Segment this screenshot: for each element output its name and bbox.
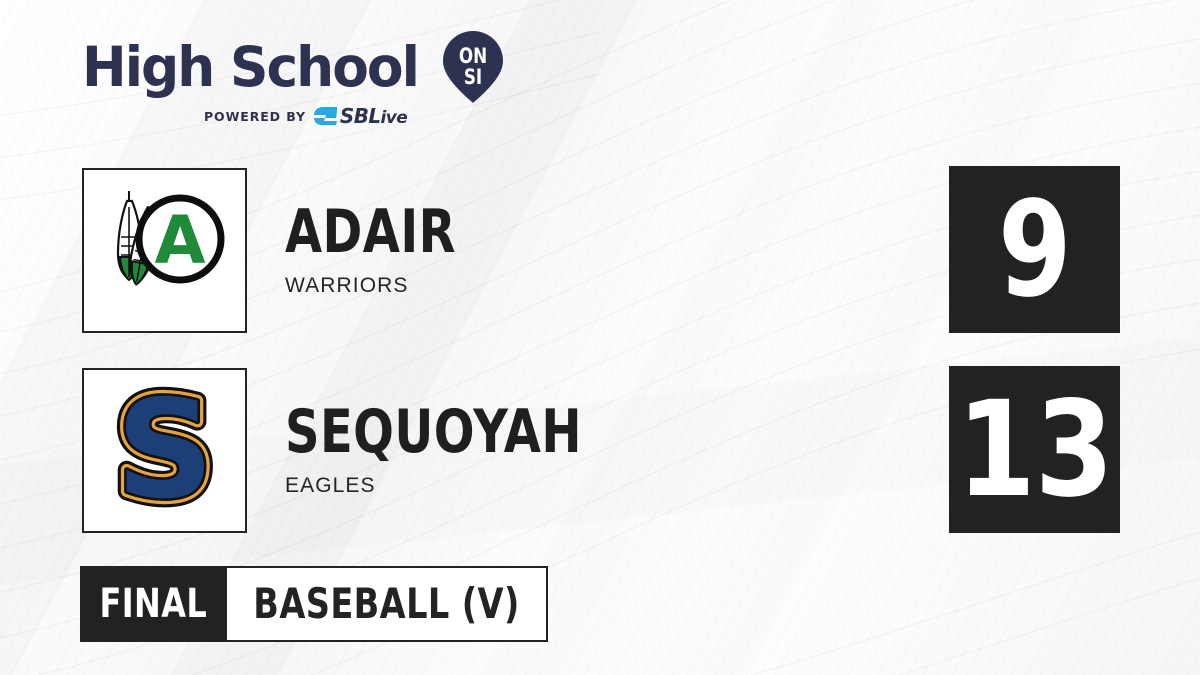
adair-warriors-logo-icon: A (90, 175, 240, 325)
svg-text:SI: SI (464, 65, 482, 89)
brand-wordmark-text: High School (82, 38, 418, 96)
team-row: A ADAIR WARRIORS (82, 166, 499, 334)
team-row: S S S S SEQUOYAH EAGLES (82, 366, 656, 534)
brand-wordmark: High School ON SI (82, 36, 512, 98)
team-name: ADAIR (285, 203, 456, 261)
score-box-adair: 9 (949, 166, 1120, 333)
on-si-pin-icon: ON SI (442, 30, 504, 104)
status-bar: FINAL BASEBALL (V) (80, 566, 548, 642)
sblive-name: SBL (340, 104, 381, 128)
status-badge: FINAL (80, 566, 227, 642)
sblive-s-icon (314, 105, 338, 127)
team-logo-tile-adair: A (82, 168, 247, 333)
scoreboard-graphic: High School ON SI POWERED BY SBLive (0, 0, 1200, 675)
powered-by-row: POWERED BY SBLive (204, 104, 512, 128)
score-value: 9 (998, 184, 1071, 316)
team-name: SEQUOYAH (285, 403, 582, 461)
sblive-logo: SBLive (314, 104, 407, 128)
status-badge-label: FINAL (100, 584, 208, 624)
svg-text:S: S (116, 375, 214, 525)
sblive-suffix: ive (381, 108, 408, 128)
sblive-wordmark: SBLive (340, 104, 407, 128)
team-mascot: EAGLES (285, 474, 656, 498)
brand-header: High School ON SI POWERED BY SBLive (82, 36, 512, 132)
team-logo-tile-sequoyah: S S S S (82, 368, 247, 533)
powered-by-label: POWERED BY (204, 109, 306, 124)
team-meta-adair: ADAIR WARRIORS (285, 203, 499, 298)
team-meta-sequoyah: SEQUOYAH EAGLES (285, 403, 656, 498)
sequoyah-eagles-logo-icon: S S S S (90, 375, 240, 525)
team-mascot: WARRIORS (285, 274, 499, 298)
score-value: 13 (956, 384, 1112, 516)
event-label: BASEBALL (V) (253, 583, 519, 625)
event-panel: BASEBALL (V) (227, 566, 548, 642)
score-box-sequoyah: 13 (949, 366, 1120, 533)
svg-text:A: A (154, 202, 205, 279)
